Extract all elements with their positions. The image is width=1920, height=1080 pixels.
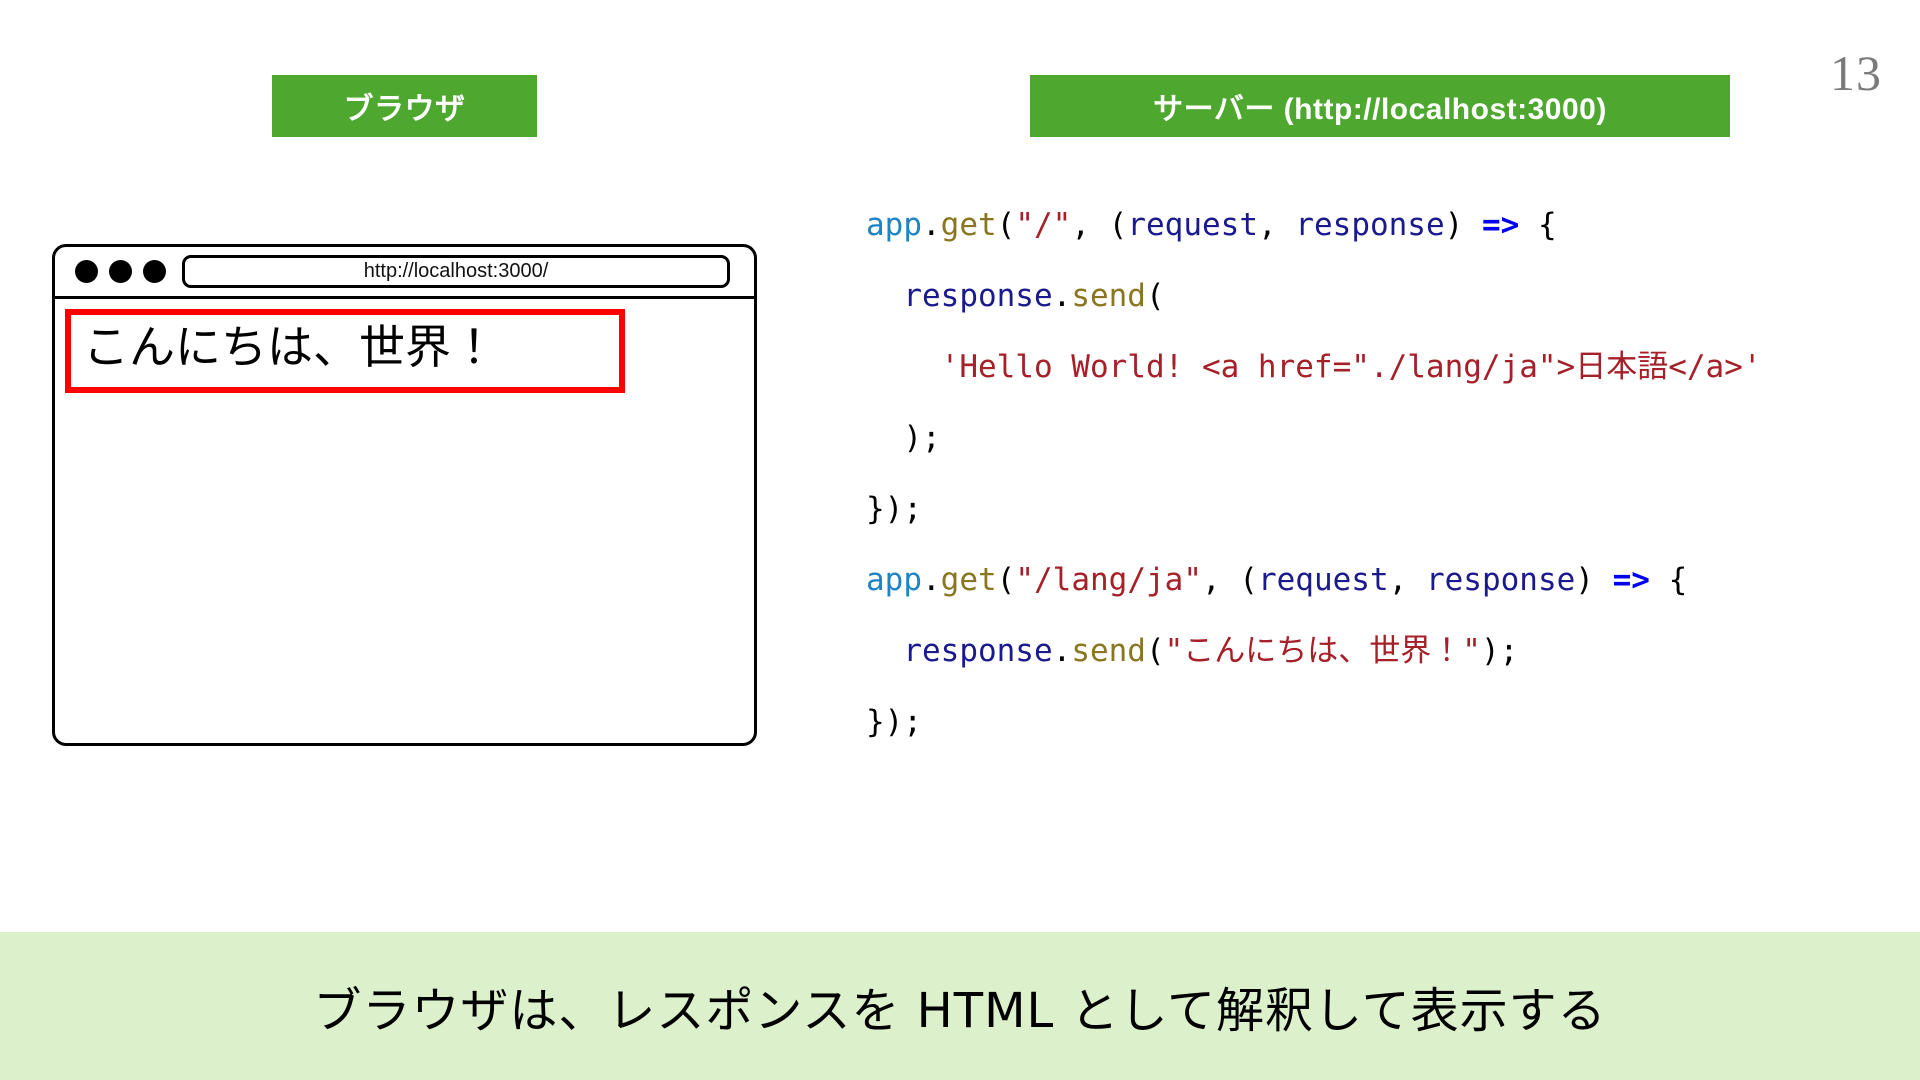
code-token: ( <box>997 207 1016 243</box>
code-token: ); <box>903 420 940 456</box>
code-token: ( <box>1146 278 1165 314</box>
code-token: { <box>1519 207 1556 243</box>
code-token: get <box>941 562 997 598</box>
code-token: response <box>1295 207 1444 243</box>
code-line: app.get("/lang/ja", (request, response) … <box>866 545 1876 616</box>
code-token: => <box>1482 207 1519 243</box>
code-token: . <box>1053 278 1072 314</box>
close-dot-icon[interactable] <box>75 260 98 283</box>
code-token: , ( <box>1202 562 1258 598</box>
code-line: }); <box>866 474 1876 545</box>
address-bar[interactable]: http://localhost:3000/ <box>182 255 730 288</box>
window-controls <box>75 260 166 283</box>
code-token: "/lang/ja" <box>1015 562 1202 598</box>
server-column-header-label: サーバー (http://localhost:3000) <box>1153 84 1607 128</box>
code-token: send <box>1071 278 1146 314</box>
code-token: , <box>1389 562 1426 598</box>
code-token: response <box>1426 562 1575 598</box>
code-indent <box>866 278 903 314</box>
code-token: . <box>922 207 941 243</box>
code-token: ( <box>1146 633 1165 669</box>
caption-banner: ブラウザは、レスポンスを HTML として解釈して表示する <box>0 932 1920 1080</box>
code-token: }); <box>866 704 922 740</box>
page-number: 13 <box>1830 48 1882 98</box>
code-line: app.get("/", (request, response) => { <box>866 190 1876 261</box>
code-token: ) <box>1575 562 1612 598</box>
code-token: "こんにちは、世界！" <box>1165 633 1481 669</box>
code-line: ); <box>866 403 1876 474</box>
code-line: 'Hello World! <a href="./lang/ja">日本語</a… <box>866 332 1876 403</box>
code-token: . <box>1053 633 1072 669</box>
code-token: request <box>1127 207 1258 243</box>
code-token: response <box>903 278 1052 314</box>
code-token: ( <box>997 562 1016 598</box>
code-token: . <box>922 562 941 598</box>
code-token: 'Hello World! <a href="./lang/ja">日本語</a… <box>941 349 1762 385</box>
browser-viewport: こんにちは、世界！ <box>55 299 754 743</box>
rendered-page-text: こんにちは、世界！ <box>83 319 607 377</box>
maximize-dot-icon[interactable] <box>143 260 166 283</box>
code-line: }); <box>866 687 1876 758</box>
code-token: request <box>1258 562 1389 598</box>
code-token: get <box>941 207 997 243</box>
code-token: { <box>1650 562 1687 598</box>
caption-text: ブラウザは、レスポンスを HTML として解釈して表示する <box>313 971 1606 1041</box>
browser-column-header-label: ブラウザ <box>344 84 466 128</box>
server-column-header: サーバー (http://localhost:3000) <box>1030 75 1730 137</box>
code-token: , ( <box>1071 207 1127 243</box>
rendered-output-highlight: こんにちは、世界！ <box>65 309 625 393</box>
code-token: , <box>1258 207 1295 243</box>
code-token: => <box>1613 562 1650 598</box>
code-token: app <box>866 562 922 598</box>
code-token: ); <box>1481 633 1518 669</box>
code-line: response.send( <box>866 261 1876 332</box>
code-token: "/" <box>1015 207 1071 243</box>
code-token: }); <box>866 491 922 527</box>
code-token: response <box>903 633 1052 669</box>
address-bar-url: http://localhost:3000/ <box>364 260 549 283</box>
code-token: app <box>866 207 922 243</box>
browser-window-mockup: http://localhost:3000/ こんにちは、世界！ <box>52 244 757 746</box>
browser-column-header: ブラウザ <box>272 75 537 137</box>
browser-chrome-bar: http://localhost:3000/ <box>55 247 754 299</box>
code-token: ) <box>1445 207 1482 243</box>
code-token: send <box>1071 633 1146 669</box>
code-line: response.send("こんにちは、世界！"); <box>866 616 1876 687</box>
code-indent <box>866 633 903 669</box>
code-indent <box>866 349 941 385</box>
code-block: app.get("/", (request, response) => { re… <box>866 190 1876 758</box>
minimize-dot-icon[interactable] <box>109 260 132 283</box>
code-indent <box>866 420 903 456</box>
